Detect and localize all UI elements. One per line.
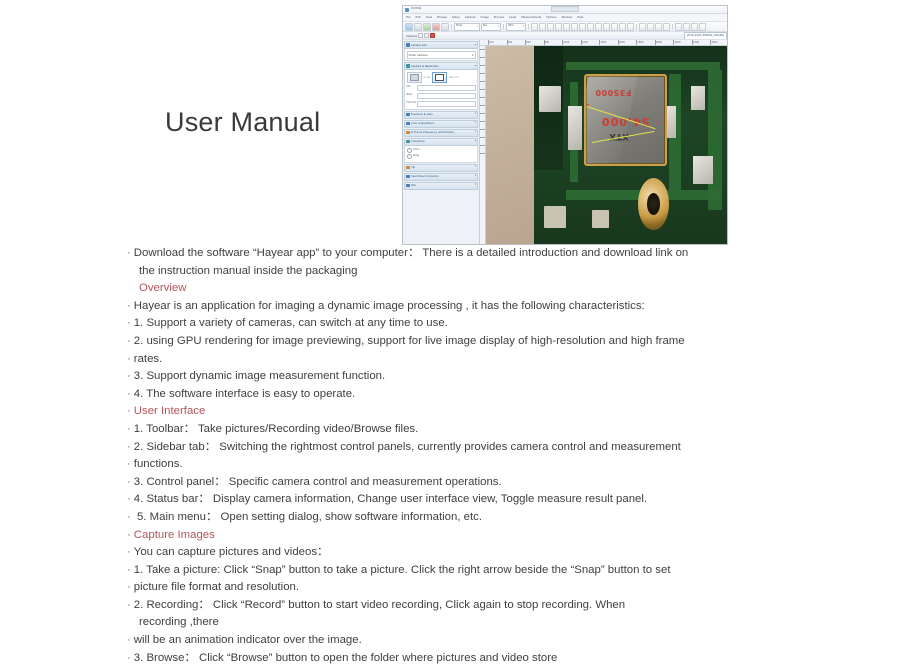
menu-item-window[interactable]: Window: [562, 16, 573, 19]
group-body-color-gray: Color Gray: [404, 146, 478, 163]
manual-line: Overview: [127, 280, 741, 298]
list-bullet-icon: ·: [127, 564, 131, 576]
pointer-tool-icon[interactable]: [547, 23, 554, 31]
chevron-up-icon[interactable]: ▴: [475, 44, 476, 47]
manual-line: ·3. Browse： Click “Browse” button to ope…: [127, 650, 741, 667]
ruler-label: 600: [526, 40, 531, 45]
floating-toolbar-handle: [551, 6, 579, 12]
pcb-trace: [566, 62, 720, 70]
menu-item-view[interactable]: View: [426, 16, 432, 19]
ruler-label: 1400: [600, 40, 606, 45]
units-combo[interactable]: Pixel ▾: [454, 23, 480, 31]
ruler-label: 2600: [711, 40, 717, 45]
group-header-frame-frequency[interactable]: IR Frame Frequency (Anti-flicker) ▾: [404, 129, 478, 137]
group-body-capture-resolution: Snap Record Dir: Size:: [404, 70, 478, 110]
manual-line-text: 2. using GPU rendering for image preview…: [134, 335, 685, 347]
manual-line-text: 5. Main menu： Open setting dialog, show …: [134, 511, 482, 523]
manual-line-text: recording ,there: [139, 616, 219, 628]
manual-line-text: 3. Browse： Click “Browse” button to open…: [134, 652, 558, 664]
layers-icon[interactable]: [683, 23, 690, 31]
menu-item-image[interactable]: Image: [480, 16, 488, 19]
ruler-label: 1600: [619, 40, 625, 45]
manual-line-text: Overview: [139, 282, 186, 294]
exposure-icon: [406, 113, 410, 117]
capture-icon: [406, 64, 410, 68]
manual-line-text: Capture Images: [134, 529, 215, 541]
chevron-down-icon[interactable]: ▾: [475, 166, 476, 169]
ruler-tick: [480, 153, 485, 154]
manual-line: ·rates.: [127, 351, 741, 369]
print-icon[interactable]: [663, 23, 670, 31]
group-header-flip[interactable]: Flip ▾: [404, 164, 478, 172]
flicker-icon: [406, 131, 410, 135]
ruler-label: 200: [489, 40, 494, 45]
chevron-up-icon[interactable]: ▴: [475, 140, 476, 143]
app-title-text: HAYEAR: [411, 8, 421, 11]
manual-line: ·2. using GPU rendering for image previe…: [127, 333, 741, 351]
group-misc: Misc ▾: [404, 182, 478, 190]
app-title-bar: HAYEAR: [403, 6, 727, 14]
list-bullet-icon: ·: [127, 317, 131, 329]
camera-panel-title: Camera: [406, 34, 417, 38]
text-tool-icon[interactable]: [619, 23, 626, 31]
toolbar-separator: [451, 24, 452, 30]
pcb-beige-region: [486, 46, 534, 245]
list-bullet-icon: ·: [127, 300, 131, 312]
list-bullet-icon: ·: [127, 546, 131, 558]
list-bullet-icon: ·: [127, 634, 131, 646]
ruler-tick: [480, 113, 485, 114]
record-button[interactable]: [432, 72, 447, 83]
angle-tool-icon[interactable]: [563, 23, 570, 31]
menu-item-setup[interactable]: Setup: [452, 16, 460, 19]
ruler-tick: [480, 57, 485, 58]
color-radio-label: Color: [413, 149, 420, 152]
image-viewport: F35000 54.000 XTX: [480, 46, 727, 245]
chip-component: F35000 54.000 XTX: [584, 74, 668, 166]
manual-line: ·3. Support dynamic image measurement fu…: [127, 368, 741, 386]
list-bullet-icon: ·: [127, 511, 131, 523]
video-icon: [435, 74, 444, 81]
list-bullet-icon: ·: [127, 405, 131, 417]
chevron-down-icon: ▾: [472, 53, 473, 57]
manual-line: ·Hayear is an application for imaging a …: [127, 298, 741, 316]
manual-line-text: 4. Status bar： Display camera informatio…: [134, 493, 647, 505]
manual-line-text: 3. Control panel： Specific camera contro…: [134, 476, 502, 488]
pcb-trace: [708, 70, 722, 210]
measurement-overlay-point: [655, 122, 657, 124]
group-header-camera-list[interactable]: Camera List ▴: [404, 41, 478, 49]
browse-icon[interactable]: [441, 23, 449, 31]
snap-button[interactable]: [407, 72, 422, 83]
group-color-gray: Color/Gray ▴ Color Gray: [404, 138, 478, 163]
list-bullet-icon: ·: [127, 247, 131, 259]
list-bullet-icon: ·: [127, 493, 131, 505]
menu-item-measurements[interactable]: Measurements: [521, 16, 541, 19]
size-field-row: Size:: [407, 93, 476, 100]
group-flip: Flip ▾: [404, 164, 478, 172]
panel-close-icon[interactable]: [430, 33, 435, 38]
app-toolbar[interactable]: Pixel ▾ NA ▾ 40% ▾: [403, 22, 727, 32]
manual-line-text: 3. Support dynamic image measurement fun…: [134, 370, 385, 382]
manual-line: ·User Interface: [127, 403, 741, 421]
gray-radio-icon: [407, 154, 412, 159]
dir-field-row: Dir:: [407, 85, 476, 92]
chevron-down-icon: ▾: [523, 25, 524, 28]
camera-control-panel: Camera List ▴ Video Camera ▾ Capture &: [403, 40, 480, 245]
menu-item-browse[interactable]: Browse: [437, 16, 447, 19]
group-header-misc[interactable]: Misc ▾: [404, 182, 478, 190]
size-field-label: Size:: [407, 94, 416, 97]
ruler-label: 800: [545, 40, 550, 45]
list-bullet-icon: ·: [127, 458, 131, 470]
group-body-camera-list: Video Camera ▾: [404, 49, 478, 61]
manual-line-text: Download the software “Hayear app” to yo…: [134, 247, 688, 259]
menu-item-laser[interactable]: Laser: [509, 16, 516, 19]
redo-icon[interactable]: [539, 23, 546, 31]
capture-buttons-row: Snap Record: [407, 72, 476, 83]
list-bullet-icon: ·: [127, 529, 131, 541]
manual-line-text: 1. Support a variety of cameras, can swi…: [134, 317, 448, 329]
pcb-via-hole: [647, 193, 661, 216]
image-document-tab[interactable]: 2019_0101_080542_010.JPG: [684, 32, 727, 39]
group-header-color-adjustment[interactable]: Color Adjustment ▾: [404, 120, 478, 128]
manual-line: ·1. Take a picture: Click “Snap” button …: [127, 562, 741, 580]
ruler-tick: [480, 73, 485, 74]
na-combo[interactable]: NA ▾: [481, 23, 501, 31]
save-icon[interactable]: [414, 23, 422, 31]
group-header-color-gray[interactable]: Color/Gray ▴: [404, 138, 478, 146]
list-bullet-icon: ·: [127, 388, 131, 400]
manual-line: ·4. Status bar： Display camera informati…: [127, 491, 741, 509]
circle-tool-icon[interactable]: [603, 23, 610, 31]
toolbar-separator: [528, 24, 529, 30]
chevron-down-icon: ▾: [477, 25, 478, 28]
pcb-component: [691, 86, 705, 110]
panel-float-icon[interactable]: [424, 33, 429, 38]
chevron-down-icon: ▾: [498, 25, 499, 28]
manual-line: ·2. Recording： Click “Record” button to …: [127, 597, 741, 615]
group-exposure-gain: Exposure & Gain ▾: [404, 111, 478, 119]
list-bullet-icon: ·: [127, 335, 131, 347]
manual-line: recording ,there: [127, 614, 741, 632]
format-field-input[interactable]: [417, 101, 476, 108]
ruler-tick: [480, 81, 485, 82]
pcb-component: [568, 106, 582, 150]
list-bullet-icon: ·: [127, 370, 131, 382]
gray-radio-label: Gray: [413, 155, 419, 158]
manual-line: ·Download the software “Hayear app” to y…: [127, 245, 741, 263]
chip-marking-line1: F35000: [595, 88, 631, 97]
flip-icon: [406, 166, 410, 170]
camera-select[interactable]: Video Camera ▾: [407, 51, 476, 59]
image-document-area: 2004006008001000120014001600180020002200…: [480, 40, 727, 245]
chip-marking-line2: 54.000: [601, 115, 649, 128]
snap-icon[interactable]: [423, 23, 431, 31]
pcb-pad: [592, 210, 609, 228]
menu-item-options[interactable]: Options: [546, 16, 556, 19]
manual-line-text: You can capture pictures and videos：: [134, 546, 329, 558]
export-icon[interactable]: [655, 23, 662, 31]
list-bullet-icon: ·: [127, 599, 131, 611]
ruler-tick: [480, 89, 485, 90]
record-button-label: Record: [449, 75, 458, 79]
zoom-combo[interactable]: 40% ▾: [506, 23, 526, 31]
list-bullet-icon: ·: [127, 652, 131, 664]
ruler-label: 2200: [674, 40, 680, 45]
format-field-row: Format:: [407, 101, 476, 108]
group-header-capture-resolution[interactable]: Capture & Resolution ▴: [404, 62, 478, 70]
application-screenshot-figure: HAYEAR File Edit View Browse Setup Captu…: [402, 5, 728, 245]
manual-line: · 5. Main menu： Open setting dialog, sho…: [127, 509, 741, 527]
manual-line: the instruction manual inside the packag…: [127, 263, 741, 281]
manual-line-text: rates.: [134, 353, 163, 365]
ruler-label: 1200: [582, 40, 588, 45]
toolbar-separator: [503, 24, 504, 30]
camera-panel-caption-bar: Camera 2019_0101_080542_010.JPG: [403, 32, 727, 40]
panel-pin-icon[interactable]: [418, 33, 423, 38]
list-bullet-icon: ·: [127, 441, 131, 453]
manual-line: ·3. Control panel： Specific camera contr…: [127, 474, 741, 492]
menu-item-file[interactable]: File: [406, 16, 411, 19]
ruler-tick: [480, 129, 485, 130]
pcb-via-ring: [638, 178, 669, 230]
manual-line-text: Hayear is an application for imaging a d…: [134, 300, 645, 312]
color-adjust-icon: [406, 122, 410, 126]
misc-icon: [406, 184, 410, 188]
list-bullet-icon: ·: [127, 476, 131, 488]
open-file-icon[interactable]: [405, 23, 413, 31]
pcb-component: [693, 156, 712, 184]
group-color-adjustment: Color Adjustment ▾: [404, 120, 478, 128]
manual-line-text: will be an animation indicator over the …: [134, 634, 362, 646]
manual-line-text: picture file format and resolution.: [134, 581, 299, 593]
manual-line: ·picture file format and resolution.: [127, 579, 741, 597]
manual-line-text: 2. Sidebar tab： Switching the rightmost …: [134, 441, 681, 453]
toolbar-separator: [636, 24, 637, 30]
image-canvas[interactable]: F35000 54.000 XTX: [486, 46, 727, 245]
undo-icon[interactable]: [531, 23, 538, 31]
chevron-down-icon[interactable]: ▾: [475, 184, 476, 187]
group-header-exposure-gain[interactable]: Exposure & Gain ▾: [404, 111, 478, 119]
size-field-input[interactable]: [417, 93, 476, 100]
ruler-tick: [480, 97, 485, 98]
chevron-down-icon[interactable]: ▾: [475, 175, 476, 178]
manual-line: ·2. Sidebar tab： Switching the rightmost…: [127, 439, 741, 457]
ruler-tick: [480, 145, 485, 146]
dead-pixel-icon: [406, 175, 410, 179]
ruler-label: 2000: [656, 40, 662, 45]
list-bullet-icon: ·: [127, 581, 131, 593]
menu-item-capture[interactable]: Capture: [465, 16, 476, 19]
app-main-body: Camera List ▴ Video Camera ▾ Capture &: [403, 40, 727, 245]
manual-line-text: functions.: [134, 458, 183, 470]
color-radio-icon: [407, 148, 412, 153]
manual-line-text: 4. The software interface is easy to ope…: [134, 388, 355, 400]
manual-body-text: ·Download the software “Hayear app” to y…: [127, 245, 741, 667]
ruler-tick: [480, 121, 485, 122]
calibration-icon[interactable]: [627, 23, 634, 31]
group-frame-frequency: IR Frame Frequency (Anti-flicker) ▾: [404, 129, 478, 137]
menu-item-help[interactable]: Help: [577, 16, 583, 19]
line-tool-icon[interactable]: [555, 23, 562, 31]
camera-icon: [410, 74, 419, 81]
manual-line: ·Capture Images: [127, 527, 741, 545]
manual-line: ·functions.: [127, 456, 741, 474]
snap-button-label: Snap: [424, 75, 431, 79]
list-bullet-icon: ·: [127, 423, 131, 435]
chevron-up-icon[interactable]: ▴: [475, 65, 476, 68]
fullscreen-icon[interactable]: [691, 23, 698, 31]
ruler-tick: [480, 137, 485, 138]
menu-item-edit[interactable]: Edit: [416, 16, 421, 19]
manual-line: ·will be an animation indicator over the…: [127, 632, 741, 650]
palette-icon: [406, 140, 410, 144]
dir-field-input[interactable]: [417, 85, 476, 92]
manual-line-text: 1. Take a picture: Click “Snap” button t…: [134, 564, 671, 576]
color-radio-row[interactable]: Color: [407, 148, 476, 153]
gray-radio-row[interactable]: Gray: [407, 154, 476, 159]
arc-tool-icon[interactable]: [579, 23, 586, 31]
group-dead-pixel-correction: Dead Pixel Correction ▾: [404, 173, 478, 181]
app-logo-icon: [405, 8, 409, 12]
pcb-photo: F35000 54.000 XTX: [486, 46, 727, 245]
app-menu-bar[interactable]: File Edit View Browse Setup Capture Imag…: [403, 14, 727, 22]
ellipse-tool-icon[interactable]: [595, 23, 602, 31]
ruler-tick: [480, 105, 485, 106]
crosshair-icon[interactable]: [647, 23, 654, 31]
ruler-label: 1000: [563, 40, 569, 45]
format-field-label: Format:: [407, 102, 416, 105]
manual-line: ·1. Toolbar： Take pictures/Recording vid…: [127, 421, 741, 439]
toolbar-separator: [672, 24, 673, 30]
rect-tool-icon[interactable]: [587, 23, 594, 31]
manual-line: ·4. The software interface is easy to op…: [127, 386, 741, 404]
manual-line-text: User Interface: [134, 405, 206, 417]
camera-icon: [406, 43, 410, 47]
record-icon[interactable]: [432, 23, 440, 31]
menu-item-process[interactable]: Process: [494, 16, 504, 19]
more-tools-icon[interactable]: [699, 23, 706, 31]
group-capture-resolution: Capture & Resolution ▴ Snap Record: [404, 62, 478, 110]
manual-line-text: 1. Toolbar： Take pictures/Recording vide…: [134, 423, 419, 435]
polygon-tool-icon[interactable]: [611, 23, 618, 31]
chevron-down-icon[interactable]: ▾: [475, 131, 476, 134]
manual-line: ·1. Support a variety of cameras, can sw…: [127, 315, 741, 333]
ruler-label: 2400: [693, 40, 699, 45]
chevron-down-icon[interactable]: ▾: [475, 122, 476, 125]
list-bullet-icon: ·: [127, 353, 131, 365]
polyline-tool-icon[interactable]: [571, 23, 578, 31]
ruler-tick: [480, 49, 485, 50]
settings-icon[interactable]: [675, 23, 682, 31]
dir-field-label: Dir:: [407, 86, 416, 89]
page-title: User Manual: [165, 107, 320, 138]
manual-line-text: 2. Recording： Click “Record” button to s…: [134, 599, 625, 611]
ruler-label: 400: [508, 40, 513, 45]
ruler-label: 1800: [637, 40, 643, 45]
pcb-component: [539, 86, 561, 112]
grid-icon[interactable]: [639, 23, 646, 31]
chevron-down-icon[interactable]: ▾: [475, 113, 476, 116]
group-camera-list: Camera List ▴ Video Camera ▾: [404, 41, 478, 61]
pcb-pad: [544, 206, 566, 228]
group-header-dead-pixel-correction[interactable]: Dead Pixel Correction ▾: [404, 173, 478, 181]
manual-line-text: the instruction manual inside the packag…: [139, 265, 357, 277]
ruler-tick: [480, 65, 485, 66]
manual-line: ·You can capture pictures and videos：: [127, 544, 741, 562]
